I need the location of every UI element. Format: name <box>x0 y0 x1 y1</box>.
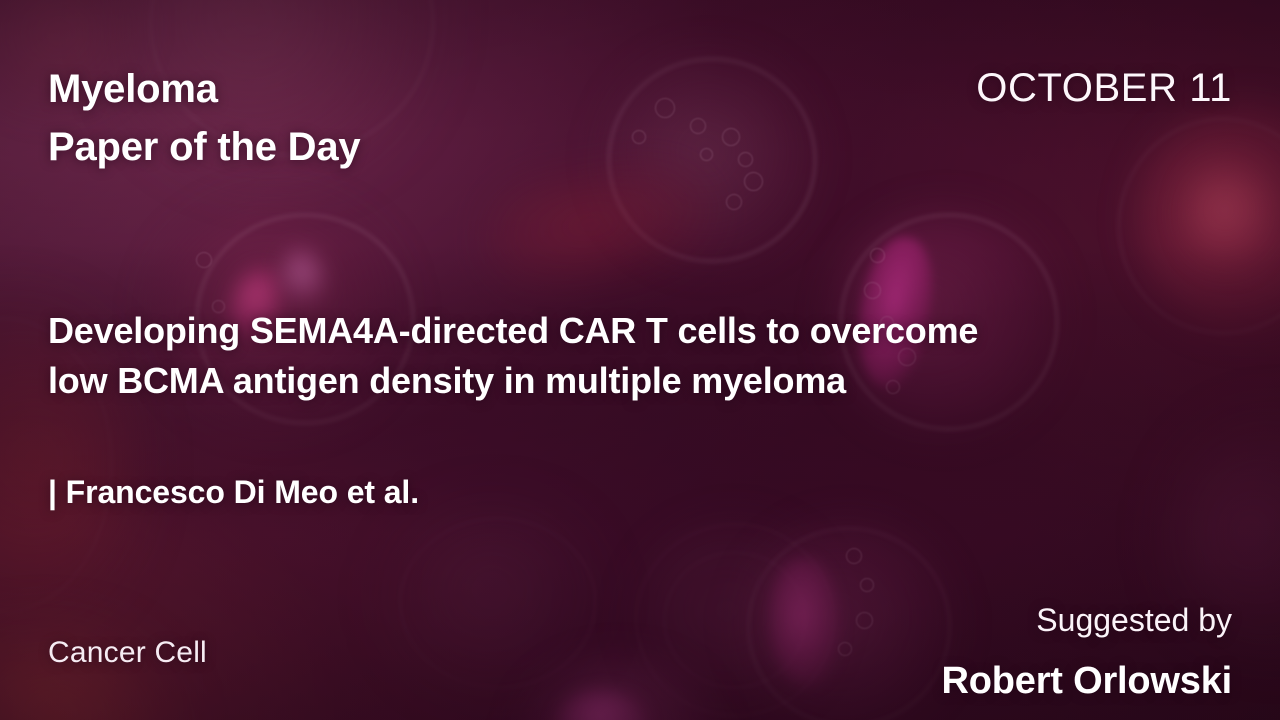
suggested-by-name: Robert Orlowski <box>942 657 1233 705</box>
suggested-by-label: Suggested by <box>942 599 1233 641</box>
paper-authors: | Francesco Di Meo et al. <box>48 470 419 514</box>
suggested-by-block: Suggested by Robert Orlowski <box>942 583 1233 720</box>
date-label: OCTOBER 11 <box>976 62 1232 114</box>
paper-title: Developing SEMA4A-directed CAR T cells t… <box>48 306 1168 406</box>
promo-slide: Myeloma Paper of the Day OCTOBER 11 Deve… <box>0 0 1280 720</box>
slide-content: Myeloma Paper of the Day OCTOBER 11 Deve… <box>0 0 1280 720</box>
journal-name: Cancer Cell <box>48 634 207 672</box>
brand-title: Myeloma Paper of the Day <box>48 60 360 176</box>
